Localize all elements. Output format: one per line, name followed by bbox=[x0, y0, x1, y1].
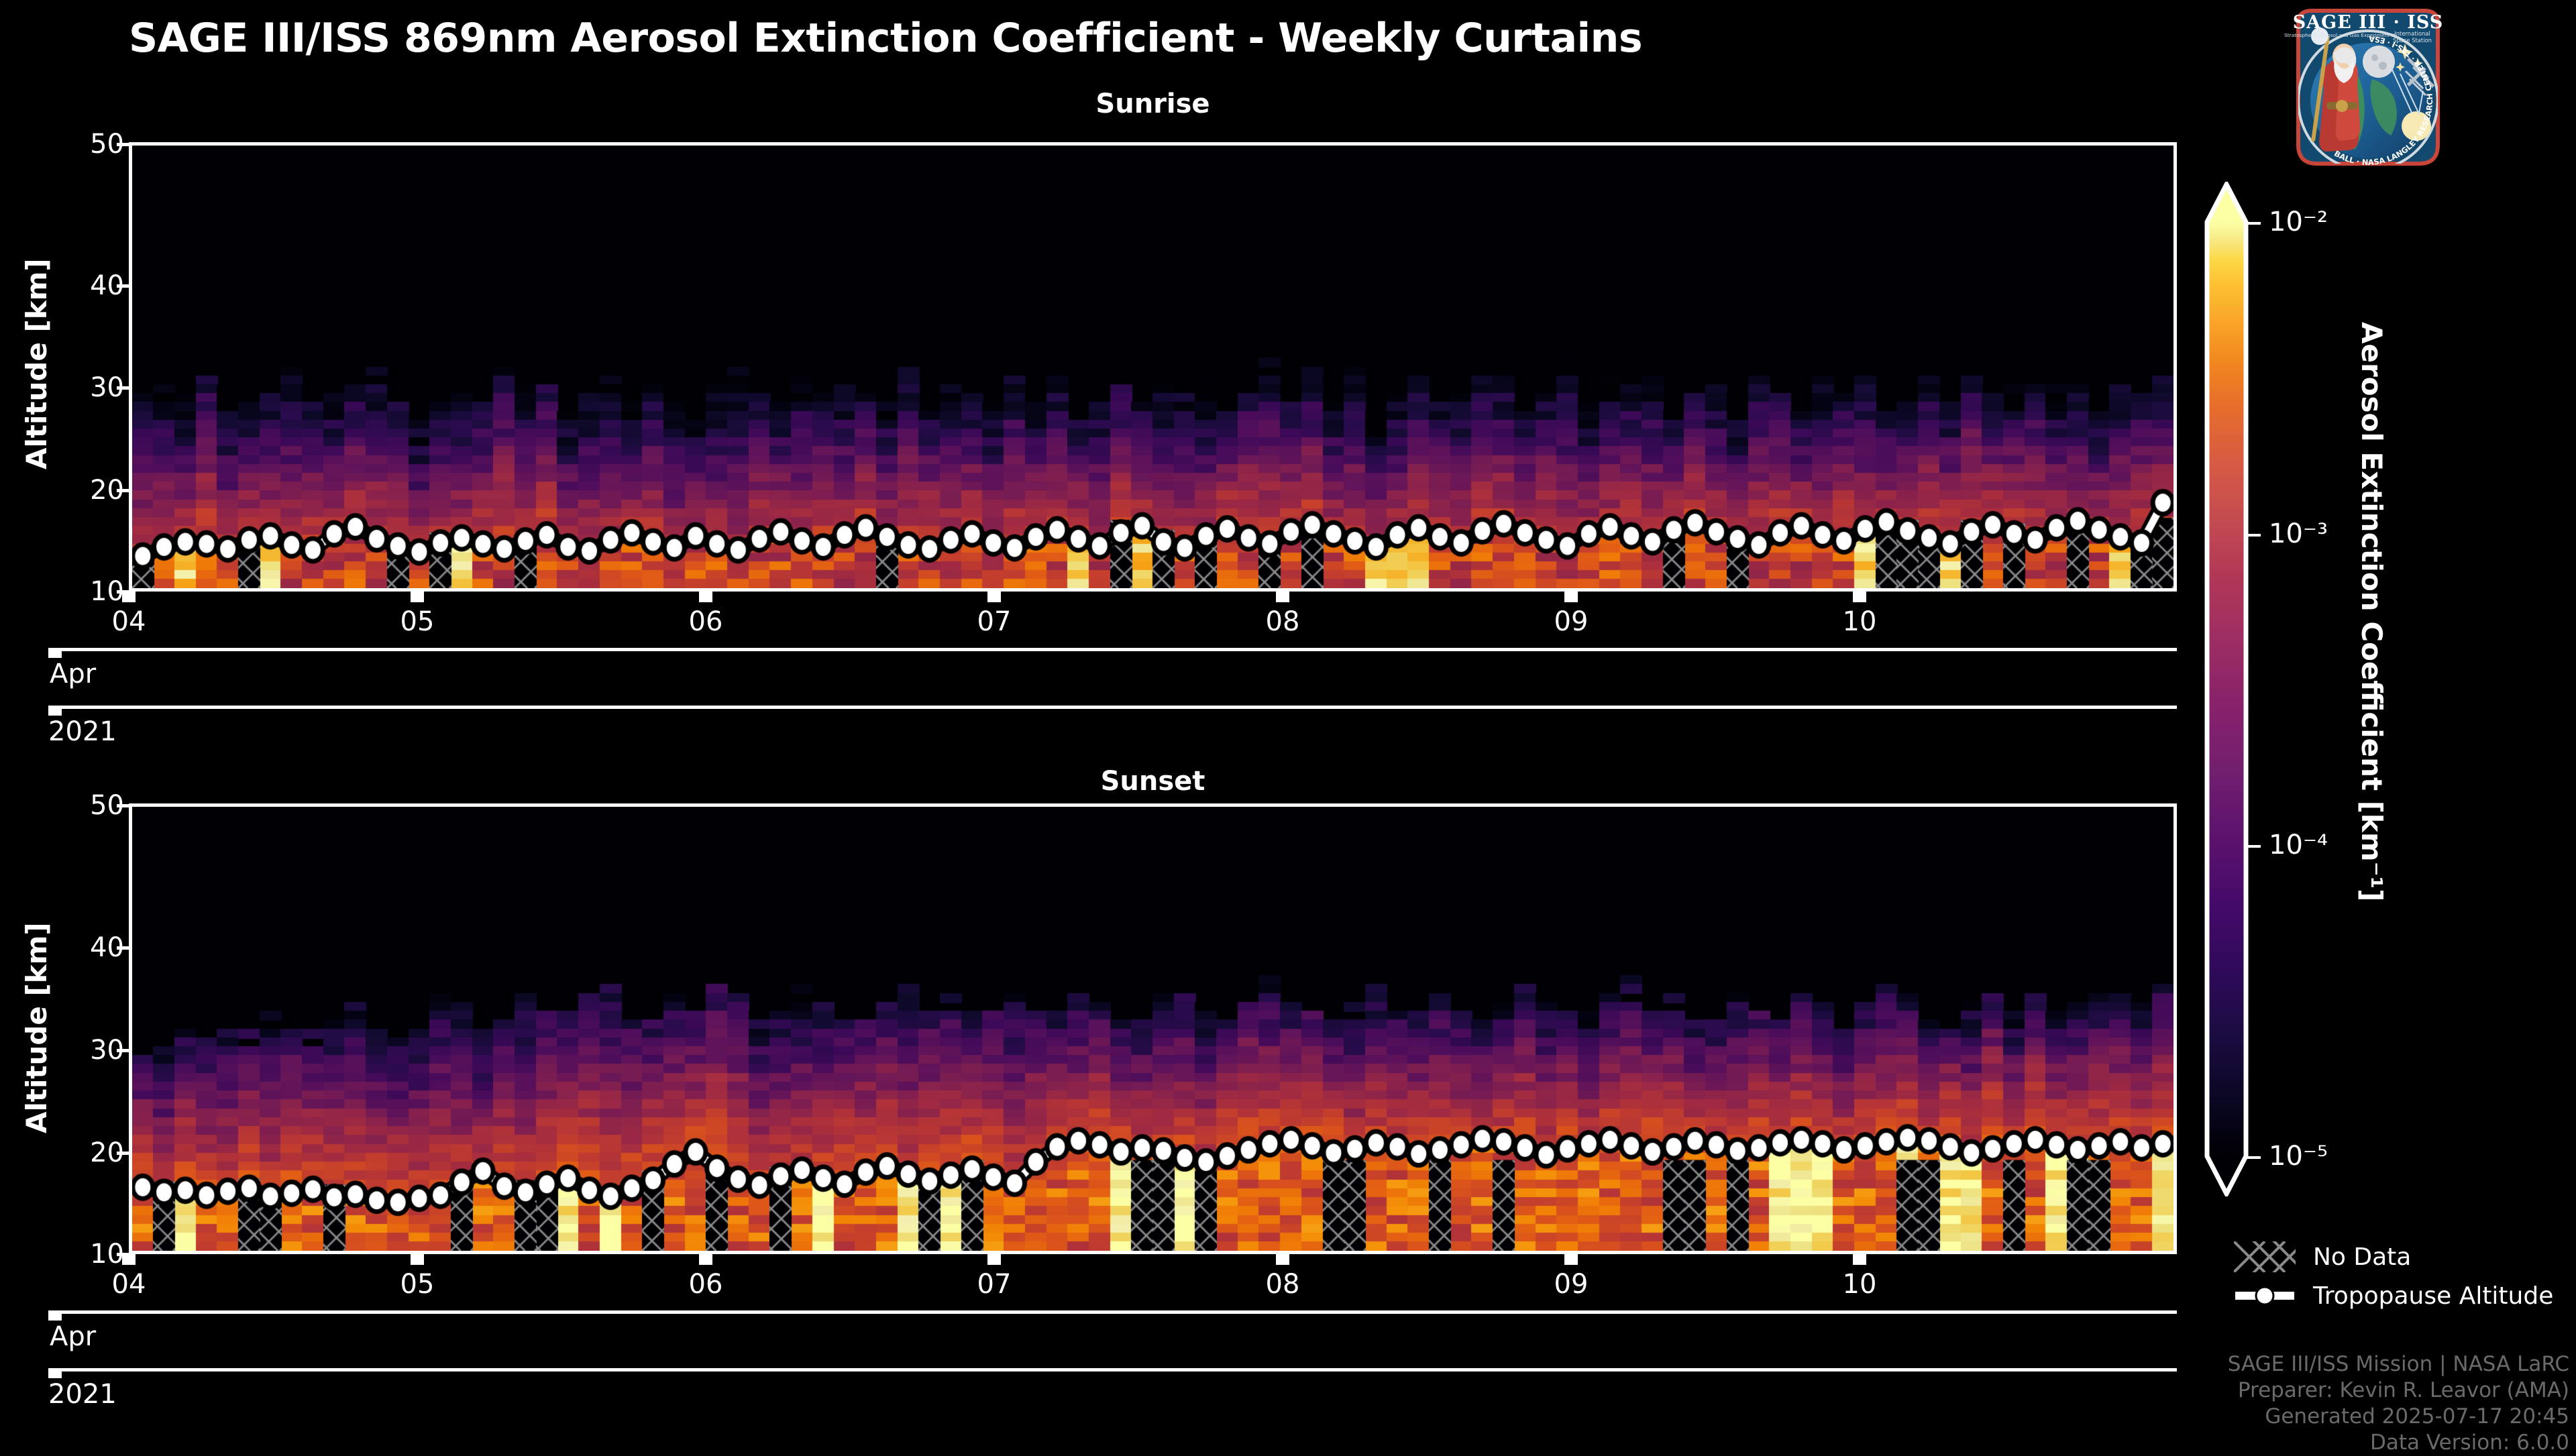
sunrise-xtick-09: 09 bbox=[1554, 606, 1589, 637]
sunset-xtick-09: 09 bbox=[1554, 1269, 1589, 1300]
sunrise-ytick-30: 30 bbox=[44, 372, 124, 403]
sunset-month-tier-line bbox=[48, 1310, 2177, 1314]
sunset-heatmap-plot[interactable] bbox=[129, 803, 2177, 1254]
colorbar-ticklabel-1e-5: 10⁻⁵ bbox=[2269, 1141, 2328, 1172]
sunrise-ytickmark-40 bbox=[117, 284, 129, 288]
colorbar[interactable]: 10⁻² 10⁻³ 10⁻⁴ 10⁻⁵ bbox=[2207, 184, 2246, 1194]
sunrise-xtick-07: 07 bbox=[977, 606, 1012, 637]
colorbar-tickmark-1 bbox=[2247, 534, 2261, 537]
sunrise-xtickmark-4 bbox=[1276, 592, 1289, 602]
credits-block: SAGE III/ISS Mission | NASA LaRC Prepare… bbox=[2228, 1351, 2569, 1456]
sunrise-month-tier-tick bbox=[48, 648, 62, 658]
sunset-xtick-07: 07 bbox=[977, 1269, 1012, 1300]
logo-subtitle-right-1: International bbox=[2394, 30, 2430, 37]
sunrise-xtick-05: 05 bbox=[400, 606, 435, 637]
sunset-xtick-05: 05 bbox=[400, 1269, 435, 1300]
sunset-month-tier-tick bbox=[48, 1310, 62, 1321]
legend-item-tropopause: Tropopause Altitude bbox=[2234, 1276, 2569, 1315]
sunrise-month-tier-label: Apr bbox=[50, 659, 96, 689]
credit-line-preparer: Preparer: Kevin R. Leavor (AMA) bbox=[2228, 1378, 2569, 1404]
sunset-xtickmark-0 bbox=[122, 1254, 136, 1265]
colorbar-tickmark-0 bbox=[2247, 222, 2261, 225]
sunset-xtick-08: 08 bbox=[1266, 1269, 1300, 1300]
sunrise-ytickmark-20 bbox=[117, 489, 129, 492]
sunset-xtickmark-2 bbox=[699, 1254, 712, 1265]
sunset-ytickmark-50 bbox=[117, 804, 129, 807]
sunset-xtick-06: 06 bbox=[689, 1269, 723, 1300]
legend-item-no-data: No Data bbox=[2234, 1237, 2569, 1276]
colorbar-ticklabel-1e-4: 10⁻⁴ bbox=[2269, 830, 2328, 860]
sunrise-year-tier-line bbox=[48, 706, 2177, 709]
sunset-year-tier-line bbox=[48, 1368, 2177, 1371]
sunset-x-axis: 04 05 06 07 08 09 10 Apr 2021 bbox=[129, 1254, 2177, 1368]
legend-label-no-data: No Data bbox=[2313, 1243, 2411, 1271]
sunrise-ytickmark-30 bbox=[117, 386, 129, 390]
sunrise-xtick-06: 06 bbox=[689, 606, 723, 637]
sunrise-xtickmark-3 bbox=[987, 592, 1001, 602]
sunrise-xtickmark-5 bbox=[1564, 592, 1578, 602]
sunrise-xtick-08: 08 bbox=[1266, 606, 1300, 637]
sunset-year-tier-label: 2021 bbox=[48, 1379, 117, 1410]
sunset-ytickmark-20 bbox=[117, 1152, 129, 1155]
sunrise-ytick-10: 10 bbox=[44, 576, 124, 607]
sunset-xtickmark-3 bbox=[987, 1254, 1001, 1265]
sunrise-xtickmark-2 bbox=[699, 592, 712, 602]
sunset-y-axis: 10 20 30 40 50 bbox=[27, 803, 124, 1254]
sunrise-year-tier-tick bbox=[48, 706, 62, 716]
sunrise-panel-subtitle: Sunrise bbox=[129, 89, 2177, 119]
sunrise-xtick-04: 04 bbox=[112, 606, 146, 637]
sunset-heatmap-canvas bbox=[132, 807, 2173, 1251]
sunrise-month-tier-line bbox=[48, 648, 2177, 651]
sunset-xtick-04: 04 bbox=[112, 1269, 146, 1300]
line-marker-icon bbox=[2234, 1280, 2296, 1311]
sage-iii-iss-mission-patch-logo: SAGE III · ISS Stratospheric Aerosol and… bbox=[2281, 0, 2455, 174]
sunrise-xtickmark-6 bbox=[1853, 592, 1866, 602]
colorbar-gradient bbox=[2207, 222, 2246, 1156]
sunset-ytickmark-40 bbox=[117, 946, 129, 950]
credit-line-mission: SAGE III/ISS Mission | NASA LaRC bbox=[2228, 1351, 2569, 1378]
sunset-ytickmark-30 bbox=[117, 1049, 129, 1052]
sunset-ytick-20: 20 bbox=[44, 1137, 124, 1168]
colorbar-ticklabel-1e-3: 10⁻³ bbox=[2269, 518, 2328, 549]
colorbar-extend-bottom bbox=[2207, 1156, 2246, 1194]
sunrise-xtick-10: 10 bbox=[1843, 606, 1877, 637]
sunset-ytick-50: 50 bbox=[44, 790, 124, 821]
colorbar-extend-top bbox=[2207, 184, 2246, 222]
sunrise-ytickmark-50 bbox=[117, 143, 129, 146]
colorbar-ticklabel-1e-2: 10⁻² bbox=[2269, 207, 2328, 237]
sunrise-x-axis: 04 05 06 07 08 09 10 Apr 2021 bbox=[129, 592, 2177, 706]
colorbar-axis-label: Aerosol Extinction Coefficient [km⁻¹] bbox=[2355, 322, 2388, 901]
sunset-xtick-10: 10 bbox=[1843, 1269, 1877, 1300]
sunrise-ytick-40: 40 bbox=[44, 270, 124, 301]
sunset-ytick-10: 10 bbox=[44, 1239, 124, 1270]
credit-line-generated: Generated 2025-07-17 20:45 bbox=[2228, 1404, 2569, 1430]
colorbar-tickmark-2 bbox=[2247, 845, 2261, 848]
sunrise-heatmap-canvas bbox=[132, 146, 2173, 588]
sunrise-ytick-50: 50 bbox=[44, 129, 124, 160]
sunset-ytick-40: 40 bbox=[44, 932, 124, 963]
sunset-panel-subtitle: Sunset bbox=[129, 766, 2177, 797]
sunrise-xtickmark-0 bbox=[122, 592, 136, 602]
sunset-xtickmark-1 bbox=[411, 1254, 424, 1265]
legend: No Data Tropopause Altitude bbox=[2234, 1237, 2569, 1315]
page-title: SAGE III/ISS 869nm Aerosol Extinction Co… bbox=[0, 15, 1771, 62]
credit-line-version: Data Version: 6.0.0 bbox=[2228, 1430, 2569, 1456]
sunrise-y-axis: 10 20 30 40 50 bbox=[27, 142, 124, 592]
sunset-xtickmark-6 bbox=[1853, 1254, 1866, 1265]
sunset-year-tier-tick bbox=[48, 1368, 62, 1378]
sunrise-xtickmark-1 bbox=[411, 592, 424, 602]
colorbar-tickmark-3 bbox=[2247, 1156, 2261, 1159]
sunset-xtickmark-4 bbox=[1276, 1254, 1289, 1265]
sunrise-ytick-20: 20 bbox=[44, 475, 124, 506]
hatch-icon bbox=[2234, 1241, 2296, 1272]
sunset-month-tier-label: Apr bbox=[50, 1321, 96, 1352]
legend-label-tropopause: Tropopause Altitude bbox=[2313, 1282, 2553, 1310]
sunrise-heatmap-plot[interactable] bbox=[129, 142, 2177, 592]
sunrise-year-tier-label: 2021 bbox=[48, 716, 117, 747]
sunset-ytick-30: 30 bbox=[44, 1035, 124, 1066]
sunset-xtickmark-5 bbox=[1564, 1254, 1578, 1265]
